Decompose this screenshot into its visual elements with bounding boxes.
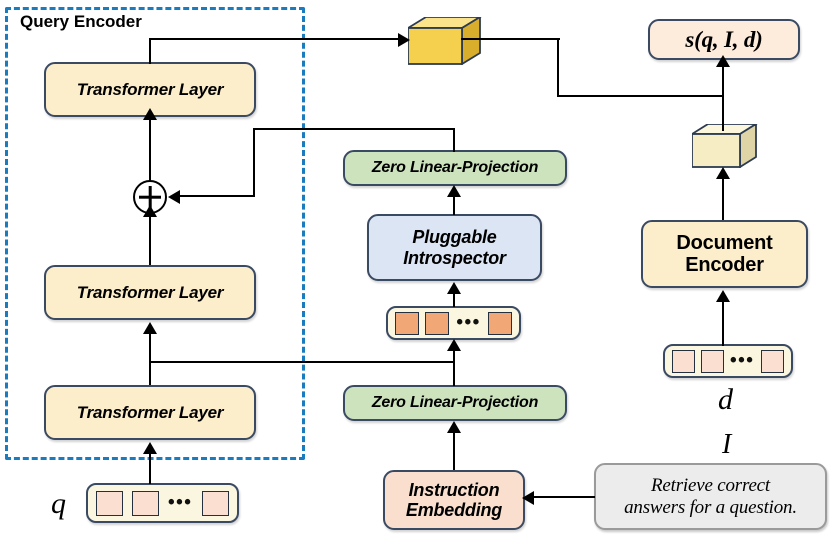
edge-top-transformer-up bbox=[149, 38, 151, 64]
arrowhead-up bbox=[716, 55, 730, 67]
arrowhead-up bbox=[143, 322, 157, 334]
edge-docenc-to-cube bbox=[722, 176, 724, 220]
edge-cube-right bbox=[461, 38, 560, 40]
edge-doccube-to-score bbox=[722, 61, 724, 131]
instruction-prompt-box: Retrieve correct answers for a question. bbox=[594, 463, 827, 530]
edge-query-to-transformer bbox=[149, 451, 151, 484]
pluggable-introspector[interactable]: Pluggable Introspector bbox=[367, 214, 542, 281]
instruction-token bbox=[425, 312, 449, 335]
arrowhead-up bbox=[447, 185, 461, 197]
instruction-token-row[interactable]: ••• bbox=[386, 306, 521, 340]
query-encoder-title: Query Encoder bbox=[20, 12, 142, 32]
instruction-embedding-line1: Instruction bbox=[409, 480, 500, 500]
edge-projection-to-tokens bbox=[453, 348, 455, 385]
edge-add-to-top bbox=[149, 117, 151, 181]
prompt-line1: Retrieve correct bbox=[651, 475, 770, 496]
query-token-ellipsis: ••• bbox=[167, 499, 193, 507]
edge-bottom-to-mid bbox=[149, 332, 151, 385]
transformer-layer-middle[interactable]: Transformer Layer bbox=[44, 265, 256, 320]
instruction-token-ellipsis: ••• bbox=[455, 319, 481, 327]
instruction-embedding[interactable]: Instruction Embedding bbox=[383, 470, 525, 530]
document-token-ellipsis: ••• bbox=[729, 357, 755, 365]
edge-projection-top-run bbox=[253, 128, 455, 130]
instruction-token bbox=[395, 312, 419, 335]
arrowhead-up bbox=[447, 339, 461, 351]
query-token bbox=[132, 491, 159, 516]
document-encoder-line1: Document bbox=[676, 232, 772, 254]
diagram-canvas: Query Encoder Transformer Layer Transfor… bbox=[0, 0, 833, 536]
document-encoder-line2: Encoder bbox=[685, 254, 764, 276]
arrowhead-up bbox=[447, 282, 461, 294]
arrowhead-left bbox=[522, 491, 534, 505]
query-token bbox=[96, 491, 123, 516]
edge-mid-to-add bbox=[149, 214, 151, 265]
edge-instruction-to-projection bbox=[453, 430, 455, 470]
score-output: s(q, I, d) bbox=[648, 19, 800, 60]
arrowhead-up bbox=[716, 290, 730, 302]
arrowhead-up bbox=[143, 108, 157, 120]
edge-projection-stub bbox=[453, 128, 455, 152]
query-token bbox=[202, 491, 229, 516]
arrowhead-up bbox=[447, 421, 461, 433]
arrowhead-up bbox=[716, 167, 730, 179]
query-label: q bbox=[51, 487, 66, 521]
arrowhead-up bbox=[143, 442, 157, 454]
prompt-line2: answers for a question. bbox=[624, 497, 797, 518]
edge-projection-down bbox=[253, 128, 255, 197]
edge-projection-to-add bbox=[178, 195, 255, 197]
arrowhead-left bbox=[168, 190, 180, 204]
instruction-token bbox=[488, 312, 512, 335]
zero-linear-projection-lower[interactable]: Zero Linear-Projection bbox=[343, 385, 567, 421]
arrowhead-right bbox=[398, 33, 410, 47]
instruction-embedding-line2: Embedding bbox=[406, 500, 502, 520]
edge-introspector-to-projection bbox=[453, 194, 455, 215]
document-token-row[interactable]: ••• bbox=[663, 344, 793, 378]
edge-prompt-to-instruction bbox=[531, 496, 595, 498]
introspector-label-line1: Pluggable bbox=[412, 227, 496, 247]
document-label: d bbox=[718, 383, 733, 417]
zero-linear-projection-upper[interactable]: Zero Linear-Projection bbox=[343, 150, 567, 186]
edge-branch-to-lower-projection bbox=[149, 361, 455, 363]
edge-cube-to-score-column bbox=[557, 95, 724, 97]
document-embedding-cube bbox=[692, 124, 760, 168]
arrowhead-up bbox=[143, 205, 157, 217]
instruction-label: I bbox=[722, 429, 731, 461]
document-token bbox=[672, 350, 695, 373]
query-token-row[interactable]: ••• bbox=[86, 483, 239, 523]
document-token bbox=[761, 350, 784, 373]
transformer-layer-bottom[interactable]: Transformer Layer bbox=[44, 385, 256, 440]
edge-doctokens-to-encoder bbox=[722, 300, 724, 346]
introspector-label-line2: Introspector bbox=[403, 248, 506, 268]
document-encoder[interactable]: Document Encoder bbox=[641, 220, 808, 288]
edge-cube-down bbox=[557, 38, 559, 97]
edge-to-query-cube bbox=[149, 38, 403, 40]
query-embedding-cube bbox=[408, 17, 484, 65]
document-token bbox=[701, 350, 724, 373]
